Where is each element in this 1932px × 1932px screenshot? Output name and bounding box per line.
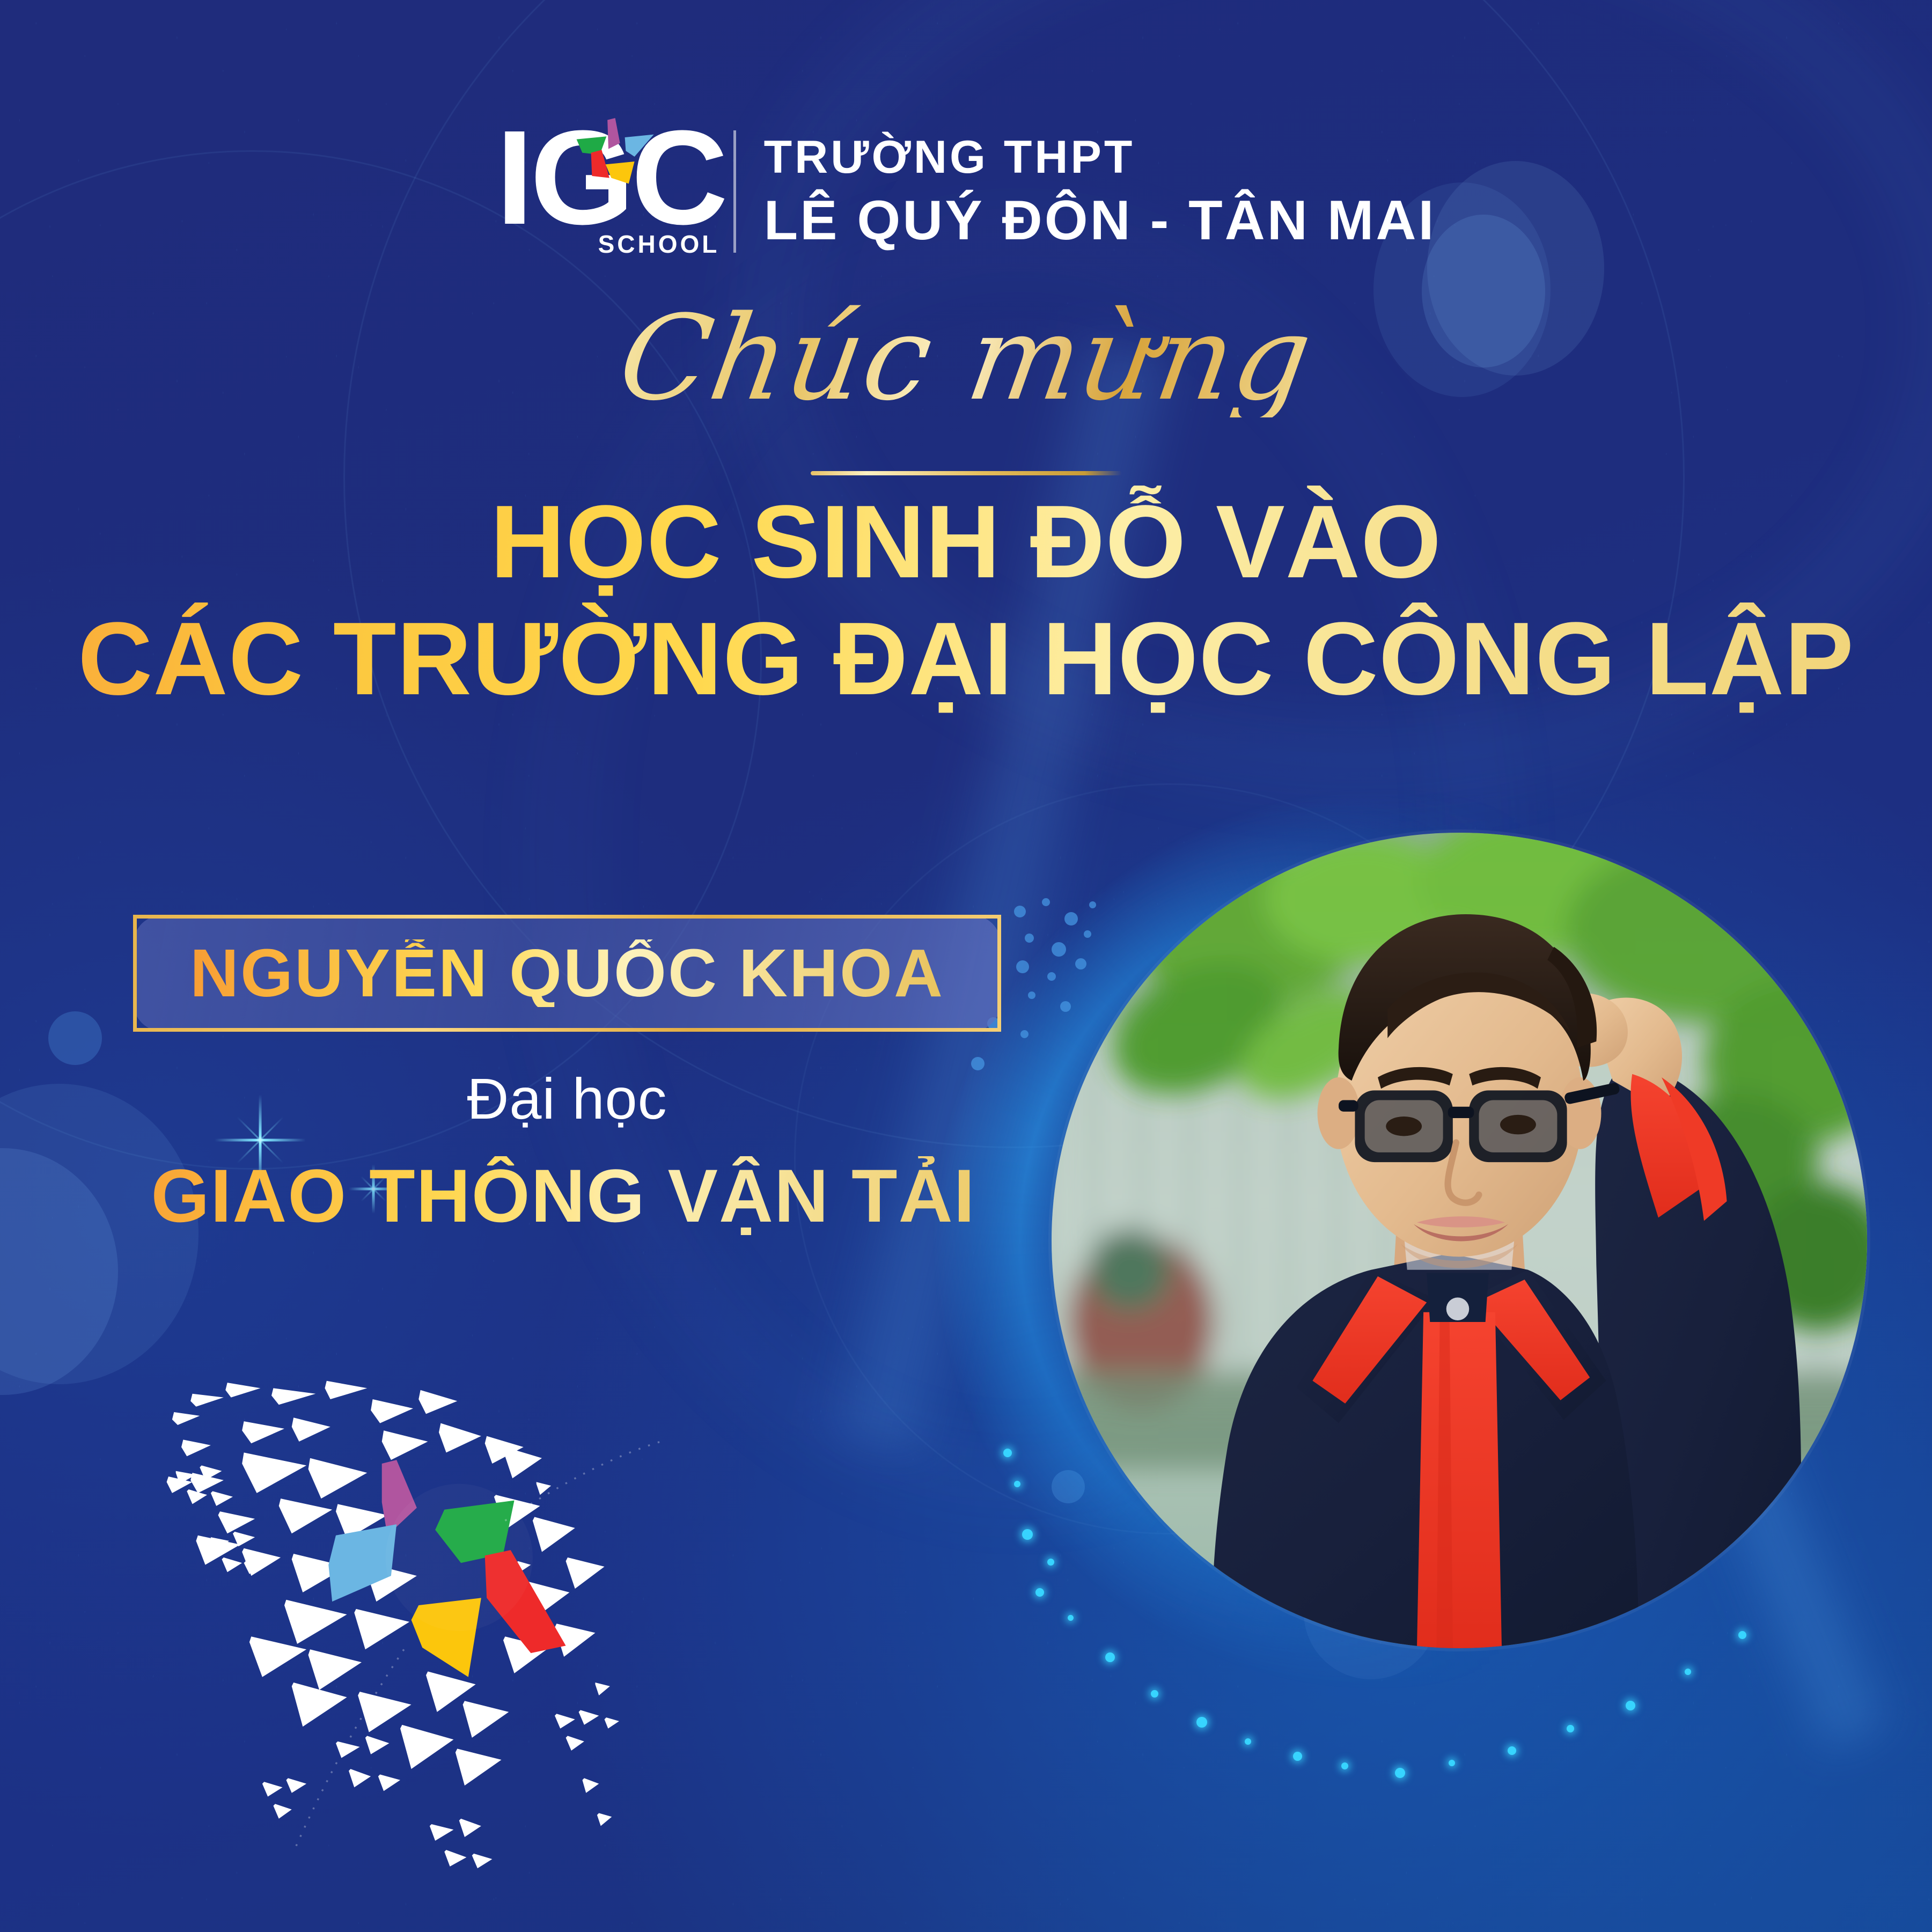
greeting-block: Chúc mừng — [0, 300, 1932, 417]
student-name-plate: NGUYỄN QUỐC KHOA — [133, 915, 1001, 1032]
sparkle-dot-icon — [1014, 1481, 1020, 1487]
sparkle-dot-icon — [1003, 1449, 1012, 1457]
igc-pinwheel-star-icon — [565, 118, 662, 215]
sparkle-dot-icon — [1047, 1559, 1054, 1566]
sparkle-dot-icon — [1395, 1768, 1405, 1778]
sparkle-dot-icon — [1738, 1631, 1746, 1639]
school-name-line1: TRƯỜNG THPT — [764, 131, 1436, 183]
headline-block: HỌC SINH ĐỖ VÀO CÁC TRƯỜNG ĐẠI HỌC CÔNG … — [0, 486, 1932, 715]
headline-line2: CÁC TRƯỜNG ĐẠI HỌC CÔNG LẬP — [0, 603, 1932, 714]
sparkle-dot-icon — [1626, 1701, 1635, 1710]
sparkle-dot-icon — [1035, 1588, 1044, 1597]
poster-canvas: IGC SCHOOL TRƯỜNG THPT LÊ QUÝ ĐÔN - TÂN … — [0, 0, 1932, 1932]
igc-logo: IGC SCHOOL — [496, 124, 706, 259]
school-name-block: TRƯỜNG THPT LÊ QUÝ ĐÔN - TÂN MAI — [764, 131, 1436, 252]
bokeh-circle-icon — [48, 1011, 102, 1065]
student-photo — [1052, 833, 1867, 1648]
greeting-underline — [811, 471, 1122, 475]
school-name-line2: LÊ QUÝ ĐÔN - TÂN MAI — [764, 189, 1436, 252]
sparkle-dot-icon — [1151, 1690, 1158, 1698]
header-divider — [733, 130, 736, 253]
sparkle-dot-icon — [1196, 1717, 1207, 1728]
headline-line1: HỌC SINH ĐỖ VÀO — [0, 486, 1932, 597]
student-name: NGUYỄN QUỐC KHOA — [190, 939, 944, 1007]
sparkle-dot-icon — [1068, 1615, 1074, 1621]
sparkle-dot-icon — [1022, 1529, 1033, 1540]
sparkle-dot-icon — [1105, 1652, 1115, 1662]
sparkle-dot-icon — [1449, 1760, 1455, 1766]
logo-subtitle: SCHOOL — [598, 230, 720, 259]
sparkle-dot-icon — [1508, 1746, 1516, 1755]
student-graduation-portrait — [1052, 833, 1867, 1648]
degree-label: Đại học — [133, 1065, 1001, 1132]
greeting-script-text: Chúc mừng — [596, 300, 1336, 417]
university-name: GIAO THÔNG VẬN TẢI — [107, 1156, 1019, 1235]
igc-star-globe-icon — [156, 1373, 671, 1889]
sparkle-dot-icon — [1245, 1738, 1251, 1745]
poster-header: IGC SCHOOL TRƯỜNG THPT LÊ QUÝ ĐÔN - TÂN … — [0, 124, 1932, 259]
sparkle-dot-icon — [1567, 1725, 1574, 1732]
sparkle-dot-icon — [1341, 1762, 1348, 1769]
sparkle-dot-icon — [1685, 1669, 1691, 1675]
sparkle-dot-icon — [1293, 1752, 1302, 1761]
